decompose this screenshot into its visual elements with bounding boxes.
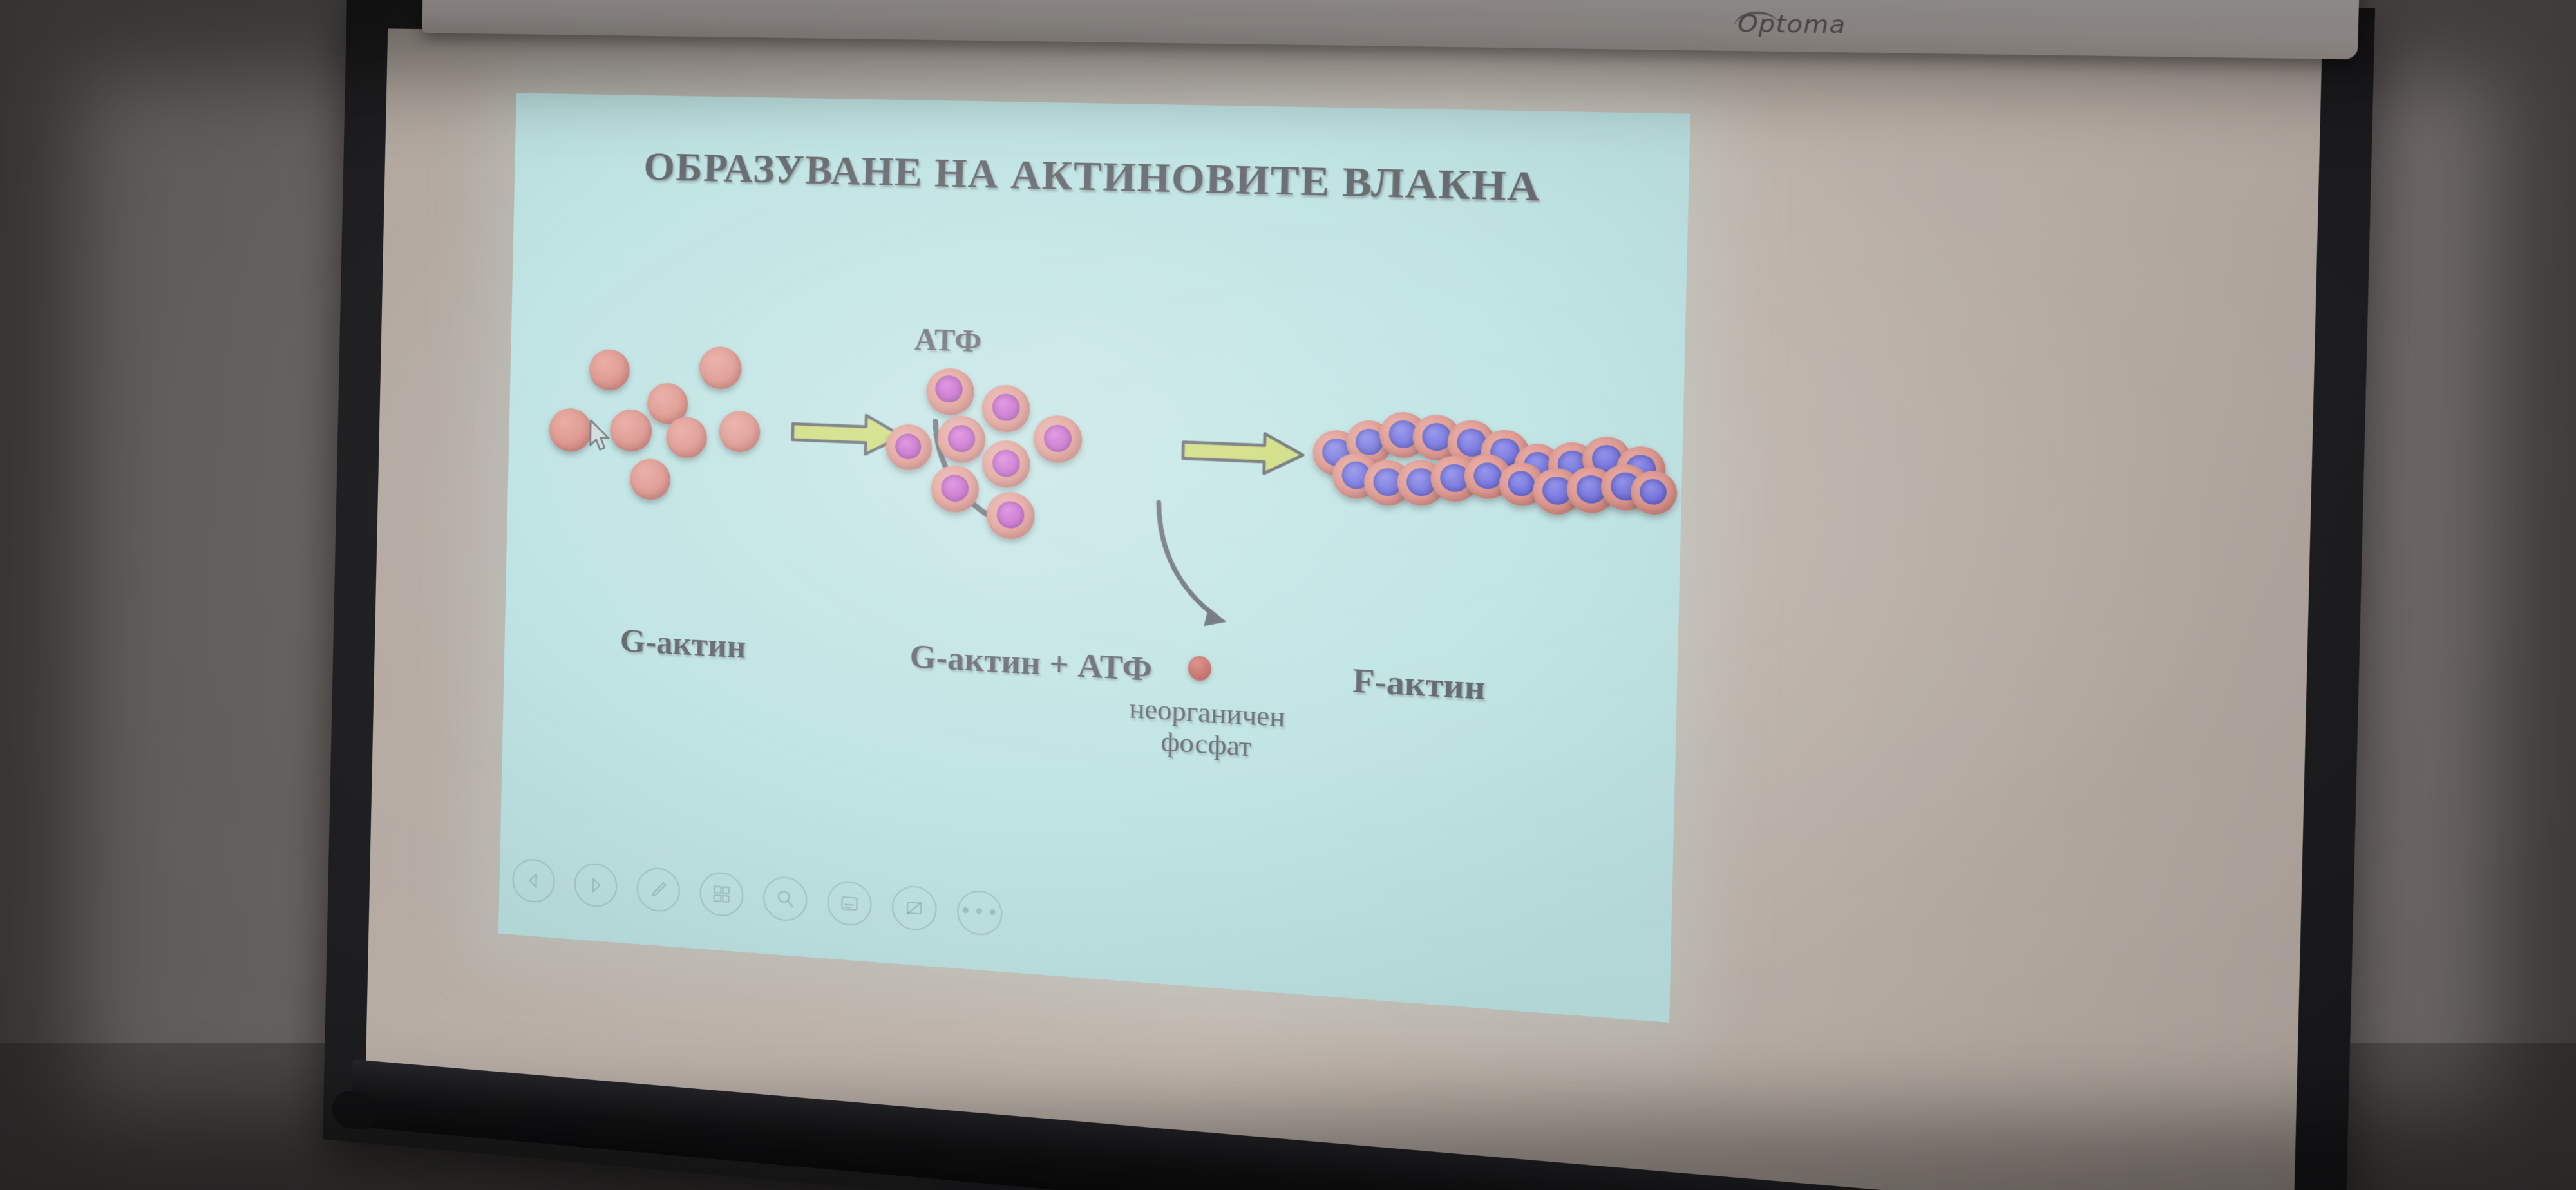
actin-monomer: [610, 409, 652, 453]
atp-core: [992, 393, 1020, 422]
slide-title: ОБРАЗУВАНЕ НА АКТИНОВИТЕ ВЛАКНА: [515, 141, 1689, 215]
atp-core: [996, 501, 1025, 529]
zoom-into-slide-button[interactable]: [762, 875, 808, 922]
factin-subunit: [1630, 470, 1678, 516]
adp-core: [1473, 462, 1502, 490]
reaction-arrow-2: [1180, 427, 1306, 480]
actin-monomer: [589, 349, 630, 391]
atp-core: [941, 474, 969, 502]
pen-tools-button[interactable]: [636, 867, 681, 913]
optoma-brand-logo: Optoma: [1738, 10, 1922, 44]
next-slide-button[interactable]: [574, 862, 618, 909]
atp-core: [895, 433, 922, 460]
inorganic-phosphate-label: неорганичен фосфат: [1056, 689, 1360, 770]
curved-arrow-phosphate-out: [1141, 498, 1256, 640]
actin-monomer: [629, 458, 670, 500]
chevron-left-icon: [524, 870, 544, 891]
magnifier-icon: [774, 887, 796, 910]
atp-input-label: АТФ: [860, 319, 1037, 361]
phosphate-label-line-1: неорганичен: [1129, 692, 1285, 733]
grid-icon: [711, 883, 733, 905]
adp-core: [1422, 422, 1452, 451]
adp-core: [1508, 471, 1535, 497]
all-slides-button[interactable]: [699, 871, 744, 918]
toggle-subtitles-button[interactable]: [827, 880, 872, 927]
atp-core: [1044, 424, 1072, 453]
actin-monomer: [699, 346, 742, 390]
screen-off-icon: [904, 896, 925, 920]
chevron-right-icon: [586, 874, 606, 896]
projector-screen-assembly: Optoma ОБРАЗУВАНЕ НА АКТИНОВИТЕ ВЛАКНА А…: [322, 0, 2433, 1190]
actin-monomer: [666, 416, 708, 458]
ellipsis-icon: •••: [960, 902, 1000, 925]
actin-monomer: [549, 408, 592, 453]
atp-core: [935, 375, 963, 402]
subtitles-icon: [838, 892, 860, 915]
adp-core: [1640, 478, 1667, 505]
stage-2-label: G-актин + АТФ: [853, 633, 1212, 692]
previous-slide-button[interactable]: [512, 858, 555, 904]
pen-icon: [648, 878, 669, 901]
phosphate-label-line-2: фосфат: [1160, 726, 1252, 762]
atp-core: [992, 449, 1021, 478]
photo-scene: Optoma ОБРАЗУВАНЕ НА АКТИНОВИТЕ ВЛАКНА А…: [0, 0, 2576, 1190]
actin-monomer: [719, 410, 761, 453]
presenter-toolbar[interactable]: •••: [512, 858, 1003, 937]
more-options-button[interactable]: •••: [957, 889, 1003, 937]
blank-screen-button[interactable]: [891, 885, 937, 932]
stage-1-label: G-актин: [558, 618, 809, 670]
actin-monomer-with-atp: [926, 368, 975, 417]
projected-slide[interactable]: ОБРАЗУВАНЕ НА АКТИНОВИТЕ ВЛАКНА АТФ: [498, 93, 1690, 1022]
mouse-cursor: [587, 419, 614, 455]
atp-core: [947, 424, 975, 452]
